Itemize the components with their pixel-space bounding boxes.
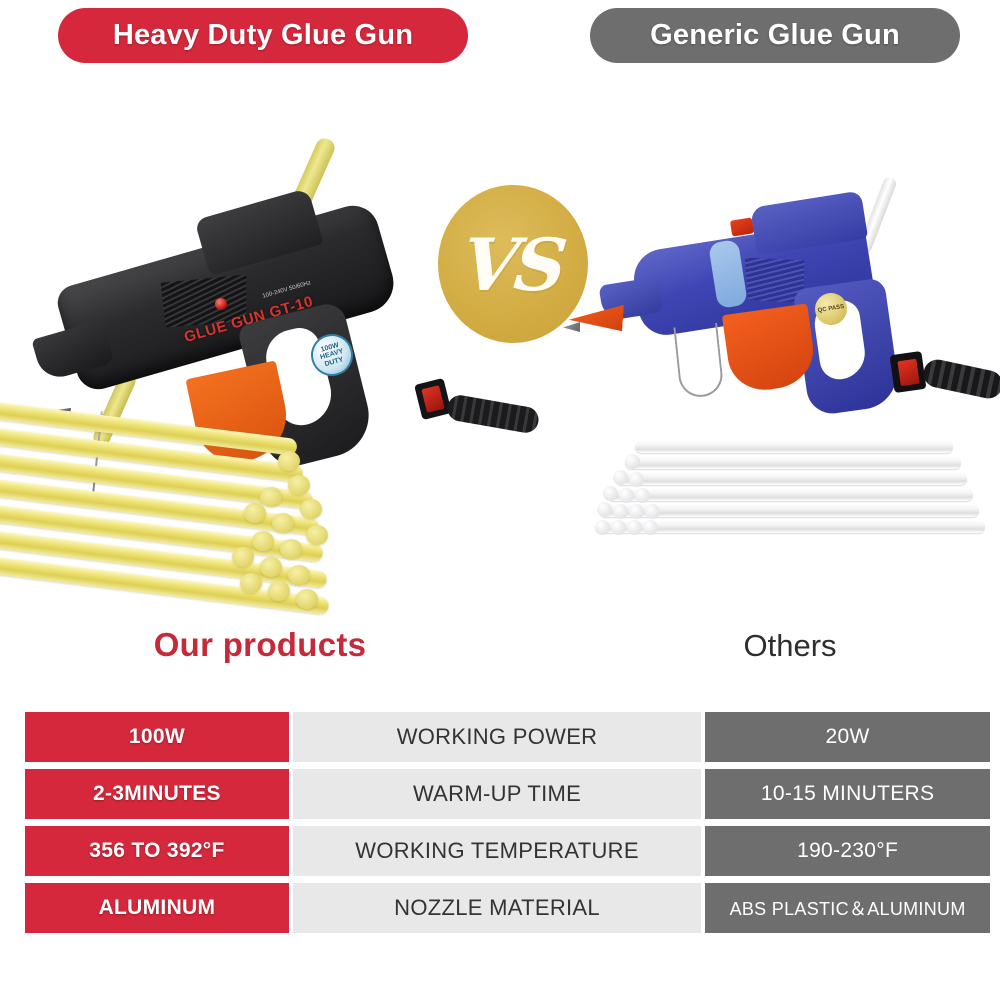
cell-others-value: 190-230°F [705,826,990,876]
product-image-generic-glue-gun: QC PASS [555,175,995,440]
cell-feature-label: WORKING POWER [293,712,701,762]
power-switch-blue-gun [890,351,927,393]
cell-feature-label: WORKING TEMPERATURE [293,826,701,876]
generic-gun-wire-stand [673,323,724,399]
cell-ours-value: 356 TO 392°F [25,826,289,876]
qc-pass-text: QC PASS [817,304,844,314]
infographic-canvas: Heavy Duty Glue Gun Generic Glue Gun VS … [0,0,1000,1000]
cell-others-value: 20W [705,712,990,762]
table-row: ALUMINUMNOZZLE MATERIALABS PLASTIC＆ALUMI… [25,883,990,933]
wattage-sticker-text: 100W HEAVY DUTY [311,339,354,371]
table-row: 2-3MINUTESWARM-UP TIME10-15 MINUTERS [25,769,990,819]
badge-heavy-duty-glue-gun: Heavy Duty Glue Gun [58,8,468,63]
white-glue-sticks-pile [595,432,995,562]
badge-left-label: Heavy Duty Glue Gun [113,19,413,52]
cell-others-value: 10-15 MINUTERS [705,769,990,819]
badge-right-label: Generic Glue Gun [650,19,900,52]
cell-others-value: ABS PLASTIC＆ALUMINUM [705,883,990,933]
cell-ours-value: 100W [25,712,289,762]
cell-feature-label: WARM-UP TIME [293,769,701,819]
power-cord-black-gun [445,393,540,435]
badge-generic-glue-gun: Generic Glue Gun [590,8,960,63]
generic-gun-metal-tip [563,322,580,332]
cell-ours-value: ALUMINUM [25,883,289,933]
our-products-heading: Our products [0,626,520,664]
yellow-glue-sticks-pile [0,375,328,625]
table-row: 100WWORKING POWER20W [25,712,990,762]
power-led-indicator [215,298,227,310]
power-cord-blue-gun [921,357,1000,401]
table-row: 356 TO 392°FWORKING TEMPERATURE190-230°F [25,826,990,876]
comparison-table: 100WWORKING POWER20W2-3MINUTESWARM-UP TI… [25,712,990,940]
cell-feature-label: NOZZLE MATERIAL [293,883,701,933]
generic-gun-red-button [730,217,754,236]
cell-ours-value: 2-3MINUTES [25,769,289,819]
generic-gun-trigger-orange [722,303,818,394]
power-switch-black-gun [414,378,452,420]
others-heading: Others [640,628,940,664]
